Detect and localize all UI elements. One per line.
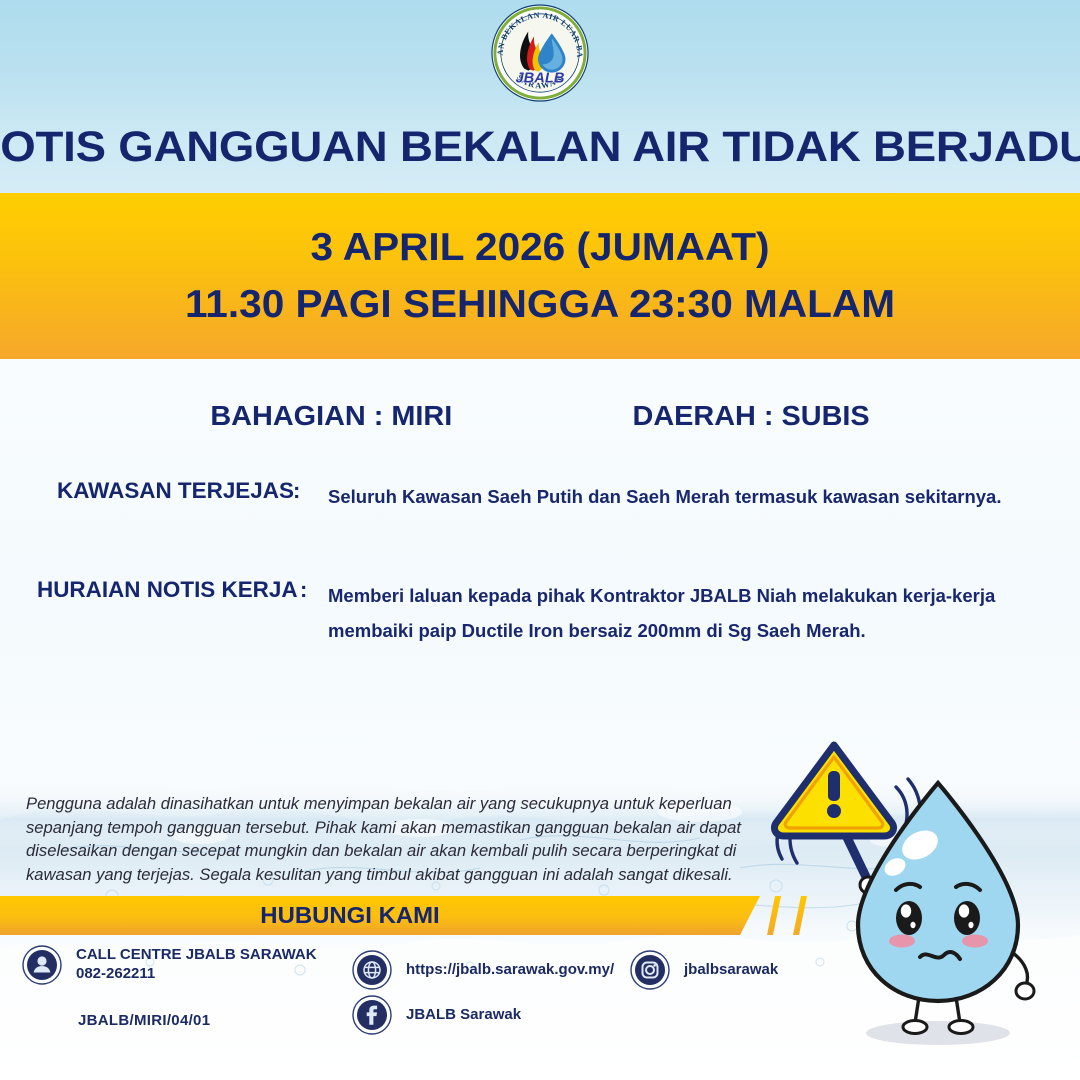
region-row: BAHAGIAN : MIRI DAERAH : SUBIS [0, 400, 1080, 432]
person-icon [22, 945, 62, 985]
affected-area-value: Seluruh Kawasan Saeh Putih dan Saeh Mera… [328, 479, 1048, 514]
contact-banner: HUBUNGI KAMI [0, 896, 760, 935]
instagram-icon [630, 950, 670, 990]
call-centre-name: CALL CENTRE JBALB SARAWAK [76, 946, 317, 965]
jbalb-logo: JABATAN BEKALAN AIR LUAR BANDAR SARAWAK … [491, 4, 589, 102]
contact-banner-label: HUBUNGI KAMI [0, 896, 714, 935]
affected-area-colon: : [293, 478, 300, 504]
contact-instagram[interactable]: jbalbsarawak [630, 950, 778, 990]
work-description-line-1: Memberi laluan kepada pihak Kontraktor J… [328, 578, 1028, 613]
website-text: https://jbalb.sarawak.gov.my/ [406, 961, 614, 980]
work-description-value: Memberi laluan kepada pihak Kontraktor J… [328, 578, 1028, 648]
facebook-icon [352, 995, 392, 1035]
facebook-text: JBALB Sarawak [406, 1006, 521, 1025]
schedule-time: 11.30 PAGI SEHINGGA 23:30 MALAM [0, 285, 1080, 324]
contact-website[interactable]: https://jbalb.sarawak.gov.my/ [352, 950, 614, 990]
instagram-text: jbalbsarawak [684, 961, 778, 980]
affected-area-label: KAWASAN TERJEJAS [57, 478, 294, 504]
work-description-label: HURAIAN NOTIS KERJA [37, 577, 298, 603]
page-title: NOTIS GANGGUAN BEKALAN AIR TIDAK BERJADU… [0, 126, 1080, 169]
district-label: DAERAH : SUBIS [633, 400, 870, 432]
globe-icon [352, 950, 392, 990]
call-centre-number: 082-262211 [76, 965, 317, 984]
advisory-text: Pengguna adalah dinasihatkan untuk menyi… [26, 792, 771, 886]
water-disruption-notice-poster: JABATAN BEKALAN AIR LUAR BANDAR SARAWAK … [0, 0, 1080, 1080]
svg-text:JBALB: JBALB [516, 70, 565, 86]
water-droplet-mascot [770, 735, 1080, 1075]
reference-code: JBALB/MIRI/04/01 [78, 1012, 210, 1029]
work-description-line-2: membaiki paip Ductile Iron bersaiz 200mm… [328, 613, 1028, 648]
schedule-date: 3 APRIL 2026 (JUMAAT) [0, 228, 1080, 267]
contact-call-centre[interactable]: CALL CENTRE JBALB SARAWAK 082-262211 [22, 945, 317, 985]
division-label: BAHAGIAN : MIRI [210, 400, 452, 432]
schedule-band [0, 193, 1080, 359]
call-centre-text: CALL CENTRE JBALB SARAWAK 082-262211 [76, 946, 317, 984]
contact-facebook[interactable]: JBALB Sarawak [352, 995, 521, 1035]
work-description-colon: : [300, 577, 307, 603]
